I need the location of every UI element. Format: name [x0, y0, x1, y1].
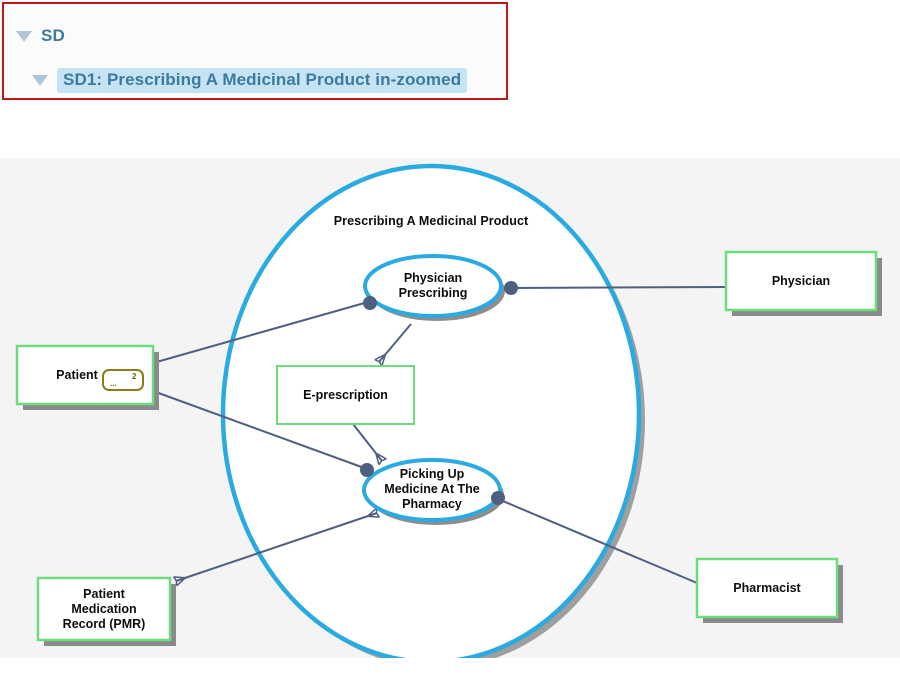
expand-badge-dots: ... — [110, 380, 117, 388]
diagram-canvas[interactable]: Prescribing A Medicinal Product Physicia… — [0, 158, 900, 658]
expand-badge-icon[interactable] — [103, 370, 143, 390]
object-e-prescription[interactable] — [277, 366, 414, 424]
expand-badge-count: 2 — [132, 373, 136, 381]
actor-patient-medication-record[interactable] — [38, 578, 176, 646]
actor-physician[interactable] — [726, 252, 882, 316]
usecase-shape — [365, 256, 501, 316]
object-shape — [277, 366, 414, 424]
connector-dot — [491, 491, 505, 505]
connector-dot — [363, 296, 377, 310]
tree-item-sd1[interactable]: SD1: Prescribing A Medicinal Product in-… — [4, 66, 506, 94]
tree-item-sd1-label: SD1: Prescribing A Medicinal Product in-… — [57, 68, 467, 93]
tree-item-sd[interactable]: SD — [4, 22, 506, 50]
actor-shape — [697, 559, 837, 617]
actor-pharmacist[interactable] — [697, 559, 843, 623]
actor-patient[interactable] — [17, 346, 159, 410]
diagram-svg — [0, 158, 900, 658]
actor-shape — [38, 578, 170, 640]
connector-dot — [360, 463, 374, 477]
connector-dot — [504, 281, 518, 295]
usecase-shape — [364, 460, 500, 520]
tree-item-sd-label: SD — [41, 26, 65, 46]
model-tree-panel: SD SD1: Prescribing A Medicinal Product … — [2, 2, 508, 100]
actor-shape — [726, 252, 876, 310]
chevron-down-icon[interactable] — [16, 31, 32, 42]
chevron-down-icon[interactable] — [32, 75, 48, 86]
connector-physician-to-physician-prescribing[interactable] — [505, 287, 726, 288]
